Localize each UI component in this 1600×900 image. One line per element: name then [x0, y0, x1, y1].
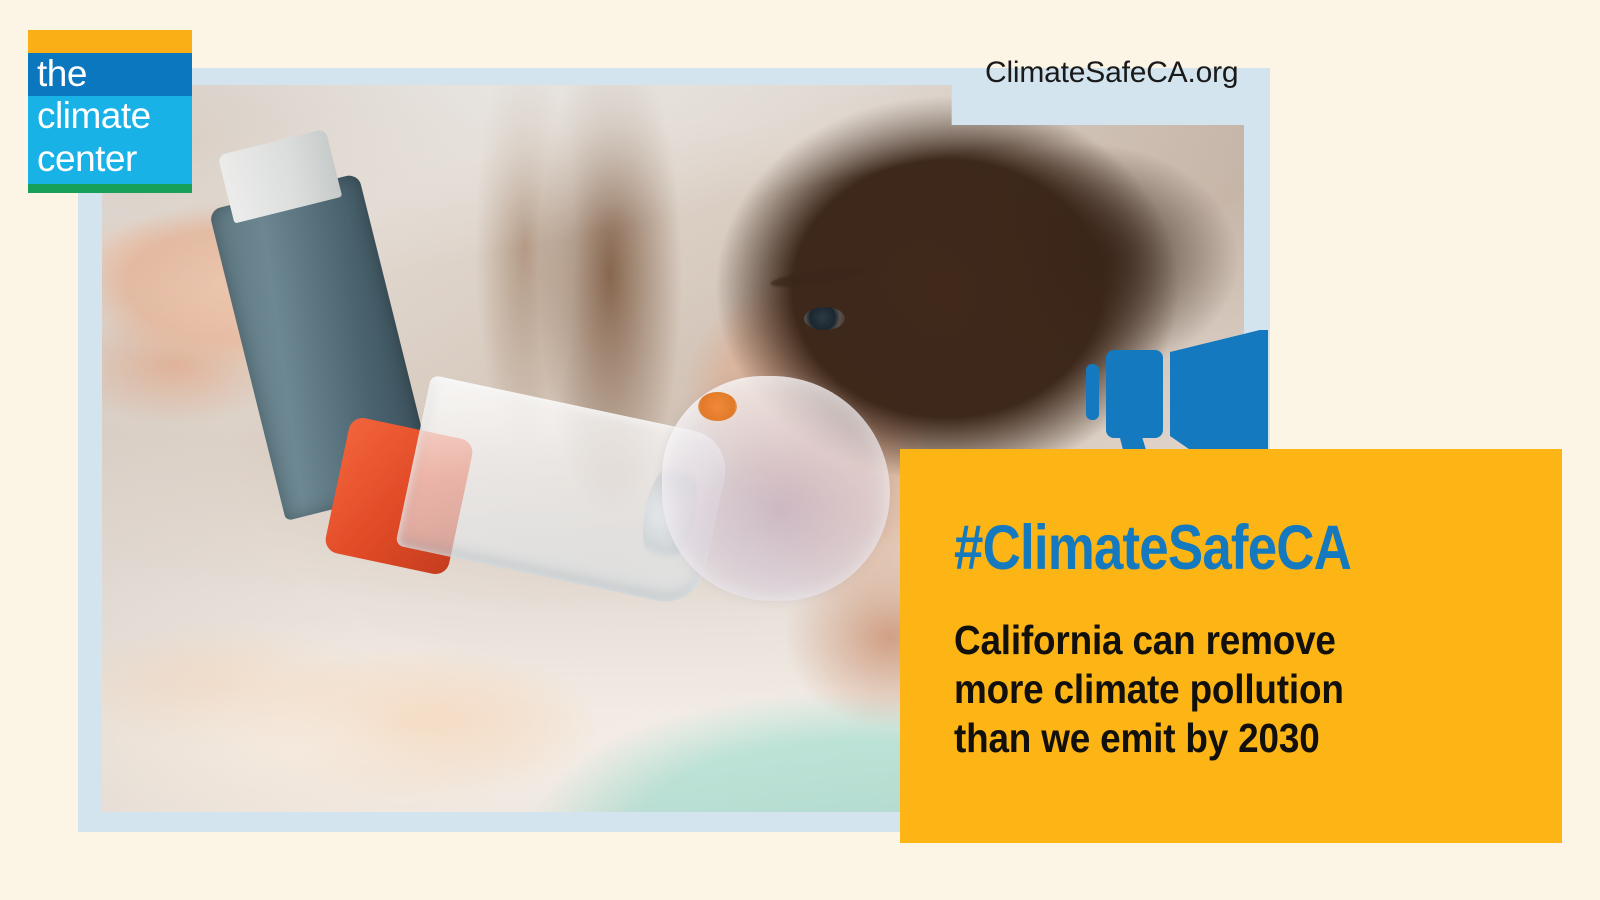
callout-body-line-3: than we emit by 2030	[954, 714, 1476, 763]
logo-word-climate: climate	[37, 95, 151, 137]
site-url[interactable]: ClimateSafeCA.org	[985, 56, 1238, 90]
hashtag-heading: #ClimateSafeCA	[954, 517, 1351, 580]
logo-word-center: center	[37, 138, 137, 180]
logo-band-green	[28, 184, 192, 193]
callout-body-line-2: more climate pollution	[954, 665, 1476, 714]
callout-body-line-1: California can remove	[954, 616, 1476, 665]
logo-word-the: the	[37, 53, 87, 95]
the-climate-center-logo[interactable]: the climate center	[28, 30, 192, 193]
logo-band-cyan: climate center	[28, 96, 192, 184]
logo-band-blue: the	[28, 53, 192, 96]
poster-canvas: the climate center ClimateSafeCA.org #Cl…	[0, 0, 1600, 900]
callout-card: #ClimateSafeCA California can remove mor…	[900, 449, 1562, 843]
logo-band-orange	[28, 30, 192, 53]
callout-body: California can remove more climate pollu…	[954, 616, 1476, 763]
